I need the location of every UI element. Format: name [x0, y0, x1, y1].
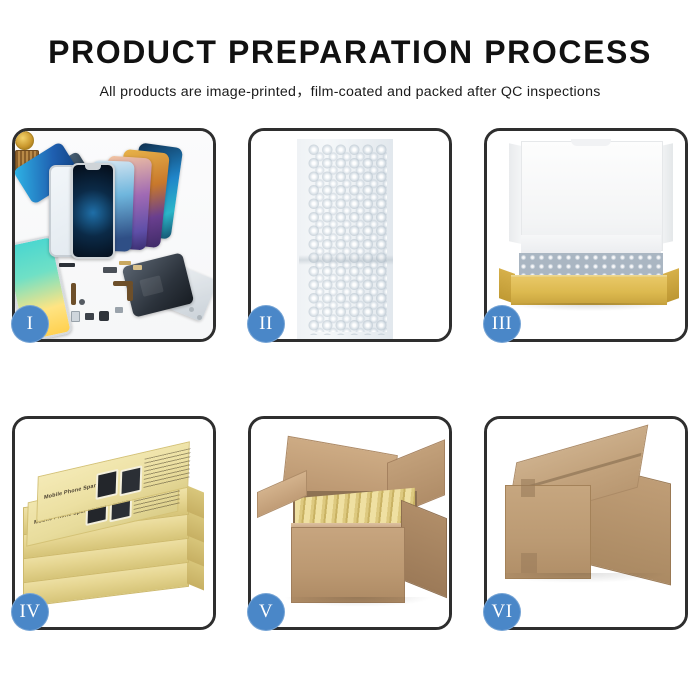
bubble-wrap-crease-icon [299, 255, 393, 265]
earpiece-part-icon [103, 267, 117, 273]
header: PRODUCT PREPARATION PROCESS All products… [0, 0, 700, 101]
speaker-part-icon [59, 263, 75, 267]
page-title: PRODUCT PREPARATION PROCESS [0, 36, 700, 70]
carton-shadow [283, 597, 433, 607]
sealed-carton-tape-lower-icon [521, 553, 537, 573]
connector-part-icon [99, 311, 109, 321]
carton-front-face-icon [291, 527, 405, 603]
process-step-panel-1: I [12, 128, 216, 342]
step-5-illustration [251, 419, 449, 627]
camera-module-part-icon [85, 313, 94, 320]
bracket-part-icon [115, 307, 123, 313]
process-steps-grid: I II [12, 128, 688, 630]
antenna-part-icon [119, 261, 131, 265]
step-badge-1: I [11, 305, 49, 343]
box-lid-notch-icon [571, 139, 611, 146]
page-subtitle: All products are image-printed，film-coat… [0, 81, 700, 101]
gold-contact-part-icon [133, 265, 142, 270]
phone-front-screen-icon [71, 163, 115, 259]
step-badge-2: II [247, 305, 285, 343]
sealed-carton-tape-upper-icon [521, 479, 535, 497]
screw-2-icon [197, 315, 202, 320]
step-1-illustration [15, 131, 213, 339]
step-badge-3: III [483, 305, 521, 343]
step-3-illustration [487, 131, 685, 339]
screw-1-icon [189, 307, 194, 312]
box-art-screen-2-icon [119, 465, 142, 496]
box-spec-lines-1-icon [144, 448, 191, 489]
step-2-illustration [251, 131, 449, 339]
process-step-panel-5: V [248, 416, 452, 630]
step-4-illustration: Mobile Phone Spare Parts Mobile Phone Sp… [15, 419, 213, 627]
step-badge-4: IV [11, 593, 49, 631]
carton-right-side-icon [401, 500, 447, 599]
process-step-panel-2: II [248, 128, 452, 342]
flex-cable-3-icon [127, 285, 133, 301]
sealed-carton-front-face-icon [505, 485, 591, 579]
step-6-illustration [487, 419, 685, 627]
phone-notch-icon [85, 165, 101, 170]
step-badge-5: V [247, 593, 285, 631]
flex-cable-1-icon [71, 283, 76, 305]
process-step-panel-3: III [484, 128, 688, 342]
inner-box-stack: Mobile Phone Spare Parts Mobile Phone Sp… [15, 419, 213, 627]
product-preparation-infographic: PRODUCT PREPARATION PROCESS All products… [0, 0, 700, 700]
process-step-panel-4: Mobile Phone Spare Parts Mobile Phone Sp… [12, 416, 216, 630]
step-badge-6: VI [483, 593, 521, 631]
box-shadow [507, 303, 671, 311]
box-art-screen-1-icon [96, 469, 119, 500]
button-part-icon [79, 299, 85, 305]
bubble-wrap-bubbles-overlay-icon [313, 150, 387, 332]
sim-tray-part-icon [71, 311, 80, 322]
sealed-carton-shadow [505, 573, 669, 583]
box-yellow-base-icon [511, 277, 667, 305]
process-step-panel-6: VI [484, 416, 688, 630]
vibration-motor-part-icon [15, 131, 34, 150]
